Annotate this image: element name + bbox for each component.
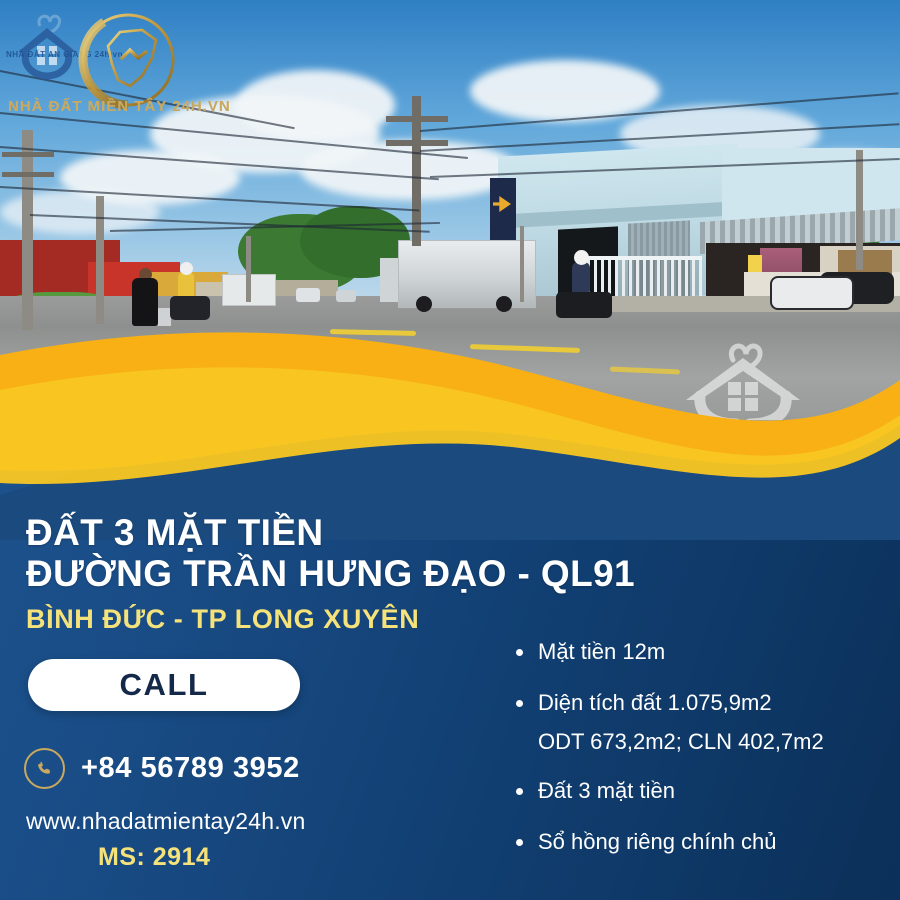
motorbike [170, 296, 210, 320]
car [336, 290, 356, 302]
bullet-dot [516, 788, 523, 795]
brand-logo: NHÀ ĐẤT AN GIANG 24h.vn NHÀ ĐẤT MIỀN TÂY… [4, 6, 234, 126]
listing-location: BÌNH ĐỨC - TP LONG XUYÊN [26, 604, 686, 635]
feature-text: Đất 3 mặt tiền [538, 777, 675, 806]
motorbike-rider [572, 262, 590, 296]
pedestrian [132, 278, 158, 326]
list-item: Diện tích đất 1.075,9m2 [516, 689, 888, 718]
list-item: Mặt tiền 12m [516, 638, 888, 667]
list-item: Sổ hồng riêng chính chủ [516, 828, 888, 857]
website-url[interactable]: www.nhadatmientay24h.vn [26, 808, 306, 835]
pole-crossbar [386, 116, 448, 122]
wave-divider [0, 320, 900, 540]
phone-handset-glyph [35, 759, 54, 778]
truck-wheel [496, 296, 512, 312]
phone-icon [24, 748, 65, 789]
feature-text: Diện tích đất 1.075,9m2 [538, 689, 772, 718]
title-line-1: ĐẤT 3 MẶT TIỀN [26, 512, 686, 553]
utility-pole [22, 130, 33, 330]
feature-text: Mặt tiền 12m [538, 638, 665, 667]
bullet-dot [516, 839, 523, 846]
pole-crossbar [386, 140, 448, 146]
list-item: Đất 3 mặt tiền [516, 777, 888, 806]
motorbike [556, 292, 612, 318]
listing-ms-code: MS: 2914 [98, 843, 210, 872]
utility-pole [246, 236, 251, 302]
pole-crossbar [2, 172, 54, 177]
utility-pole [856, 150, 863, 270]
car [296, 288, 320, 302]
phone-row[interactable]: +84 56789 3952 [24, 748, 300, 789]
listing-title-block: ĐẤT 3 MẶT TIỀN ĐƯỜNG TRẦN HƯNG ĐẠO - QL9… [26, 512, 686, 635]
billboard-sign [490, 178, 516, 240]
feature-text: Sổ hồng riêng chính chủ [538, 828, 777, 857]
parked-motorbike [770, 276, 854, 310]
real-estate-ad-poster: NHÀ ĐẤT AN GIANG 24h.vn 0765614999 - 091… [0, 0, 900, 900]
fence-top-rail [580, 256, 702, 260]
bullet-dot [516, 649, 523, 656]
cloud [235, 70, 395, 140]
rider-helmet [574, 250, 589, 265]
pole-crossbar [2, 152, 54, 157]
bullet-dot [516, 700, 523, 707]
call-button-label: CALL [119, 667, 208, 703]
feature-detail-text: ODT 673,2m2; CLN 402,7m2 [538, 729, 888, 755]
call-button[interactable]: CALL [28, 659, 300, 711]
street-light-pole [520, 226, 524, 302]
truck-wheel [416, 296, 432, 312]
rider-helmet [180, 262, 193, 275]
phone-number: +84 56789 3952 [81, 752, 300, 785]
utility-pole [96, 196, 104, 324]
brand-logo-text: NHÀ ĐẤT MIỀN TÂY 24H.VN [8, 98, 231, 115]
title-line-2: ĐƯỜNG TRẦN HƯNG ĐẠO - QL91 [26, 553, 686, 594]
feature-list: Mặt tiền 12m Diện tích đất 1.075,9m2 ODT… [516, 638, 888, 878]
